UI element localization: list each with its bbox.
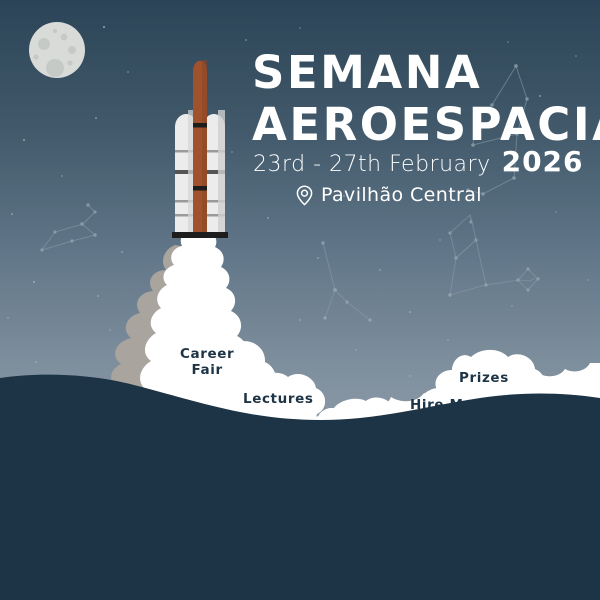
location-pin-icon bbox=[296, 185, 313, 206]
event-date-range: 23rd - 27th February bbox=[253, 152, 491, 177]
poster-title-line-2: AEROESPACIAL bbox=[252, 98, 600, 151]
cloud-label-workshops: Workshops bbox=[317, 419, 406, 435]
cloud-label-hire-me: Hire Me! bbox=[410, 398, 480, 414]
event-year: 2026 bbox=[502, 145, 584, 178]
cloud-label-prizes: Prizes bbox=[459, 371, 509, 387]
rocket-booster-left bbox=[175, 110, 193, 232]
rocket-booster-right bbox=[207, 110, 225, 232]
event-venue-row: Pavilhão Central bbox=[296, 184, 482, 206]
cloud-label-career-fair: Career Fair bbox=[180, 347, 234, 379]
rocket-core bbox=[193, 60, 207, 234]
cloud-label-lectures: Lectures bbox=[243, 392, 313, 408]
poster-canvas: SEMANA AEROESPACIAL 23rd - 27th February… bbox=[0, 0, 600, 600]
poster-title-line-1: SEMANA bbox=[252, 46, 482, 99]
event-date-row: 23rd - 27th February 2026 bbox=[253, 145, 584, 178]
event-venue-name: Pavilhão Central bbox=[321, 184, 482, 206]
rocket-engine-base bbox=[172, 232, 228, 238]
